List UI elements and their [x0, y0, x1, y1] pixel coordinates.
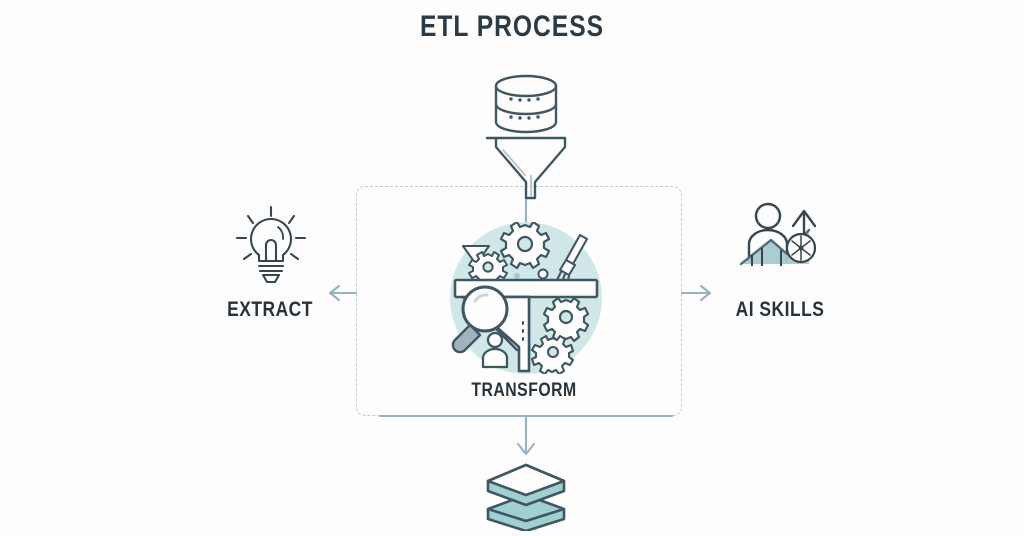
transform-label: TRANSFORM — [445, 380, 603, 402]
lightbulb-icon — [232, 205, 310, 292]
page-title: ETL PROCESS — [92, 10, 932, 44]
funnel-gears-icon — [433, 222, 619, 379]
stacked-layers-icon — [479, 463, 573, 536]
database-cylinder-icon — [478, 70, 574, 205]
etl-diagram-canvas: ETL PROCESS — [0, 0, 1024, 536]
ai-skills-label: AI SKILLS — [705, 298, 854, 322]
extract-label: EXTRACT — [195, 298, 344, 322]
person-growth-brain-icon — [735, 200, 827, 287]
